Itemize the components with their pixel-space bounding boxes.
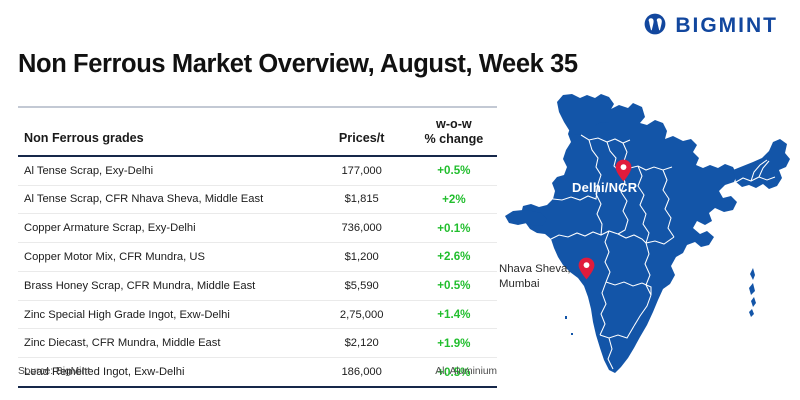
table-row: Zinc Special High Grade Ingot, Exw-Delhi… bbox=[18, 300, 497, 329]
market-overview-table: Non Ferrous grades Prices/t w-o-w % chan… bbox=[18, 106, 497, 388]
table-row: Al Tense Scrap, Exy-Delhi 177,000 +0.5% bbox=[18, 156, 497, 185]
table-row: Brass Honey Scrap, CFR Mundra, Middle Ea… bbox=[18, 271, 497, 300]
column-header-change: w-o-w % change bbox=[411, 108, 497, 156]
cell-change: +2% bbox=[411, 185, 497, 214]
brand-logo: BIGMINT bbox=[642, 12, 778, 38]
cell-change: +0.5% bbox=[411, 156, 497, 185]
brand-name: BIGMINT bbox=[675, 15, 778, 36]
map-label-mumbai-line1: Nhava Sheva, bbox=[499, 262, 571, 277]
india-map: Delhi/NCR Nhava Sheva, Mumbai bbox=[497, 92, 800, 384]
table-body: Al Tense Scrap, Exy-Delhi 177,000 +0.5% … bbox=[18, 156, 497, 386]
table-header-row: Non Ferrous grades Prices/t w-o-w % chan… bbox=[18, 108, 497, 156]
cell-change: +1.9% bbox=[411, 329, 497, 358]
map-label-delhi: Delhi/NCR bbox=[572, 180, 637, 195]
table-row: Copper Motor Mix, CFR Mundra, US $1,200 … bbox=[18, 243, 497, 272]
cell-grade: Copper Motor Mix, CFR Mundra, US bbox=[18, 243, 313, 272]
column-header-grade: Non Ferrous grades bbox=[18, 108, 313, 156]
column-header-change-line2: % change bbox=[411, 132, 497, 147]
page-title: Non Ferrous Market Overview, August, Wee… bbox=[18, 50, 578, 79]
cell-grade: Al Tense Scrap, Exy-Delhi bbox=[18, 156, 313, 185]
table-row: Copper Armature Scrap, Exy-Delhi 736,000… bbox=[18, 214, 497, 243]
source-note: Source: BigMint bbox=[18, 366, 90, 377]
india-landmass bbox=[505, 94, 790, 373]
cell-grade: Brass Honey Scrap, CFR Mundra, Middle Ea… bbox=[18, 271, 313, 300]
cell-grade: Zinc Diecast, CFR Mundra, Middle East bbox=[18, 329, 313, 358]
cell-price: $1,815 bbox=[313, 185, 411, 214]
map-pin-icon-delhi[interactable] bbox=[615, 159, 632, 182]
abbreviation-note: Al: Aluminium bbox=[435, 366, 497, 377]
table-bottom-rule bbox=[18, 386, 497, 388]
map-label-mumbai-line2: Mumbai bbox=[499, 277, 571, 292]
cell-grade: Zinc Special High Grade Ingot, Exw-Delhi bbox=[18, 300, 313, 329]
map-label-mumbai: Nhava Sheva, Mumbai bbox=[499, 262, 571, 292]
map-pin-icon-mumbai[interactable] bbox=[578, 257, 595, 280]
column-header-price: Prices/t bbox=[313, 108, 411, 156]
cell-price: 2,75,000 bbox=[313, 300, 411, 329]
cell-change: +2.6% bbox=[411, 243, 497, 272]
cell-price: 736,000 bbox=[313, 214, 411, 243]
cell-change: +0.5% bbox=[411, 271, 497, 300]
cell-price: $1,200 bbox=[313, 243, 411, 272]
cell-price: $2,120 bbox=[313, 329, 411, 358]
table-row: Al Tense Scrap, CFR Nhava Sheva, Middle … bbox=[18, 185, 497, 214]
bigmint-logo-icon bbox=[642, 12, 668, 38]
cell-price: $5,590 bbox=[313, 271, 411, 300]
cell-change: +0.1% bbox=[411, 214, 497, 243]
cell-grade: Copper Armature Scrap, Exy-Delhi bbox=[18, 214, 313, 243]
footnotes: Source: BigMint Al: Aluminium bbox=[18, 366, 497, 377]
cell-grade: Al Tense Scrap, CFR Nhava Sheva, Middle … bbox=[18, 185, 313, 214]
india-map-svg bbox=[497, 92, 800, 384]
column-header-change-line1: w-o-w bbox=[411, 117, 497, 132]
cell-change: +1.4% bbox=[411, 300, 497, 329]
table-row: Zinc Diecast, CFR Mundra, Middle East $2… bbox=[18, 329, 497, 358]
cell-price: 177,000 bbox=[313, 156, 411, 185]
